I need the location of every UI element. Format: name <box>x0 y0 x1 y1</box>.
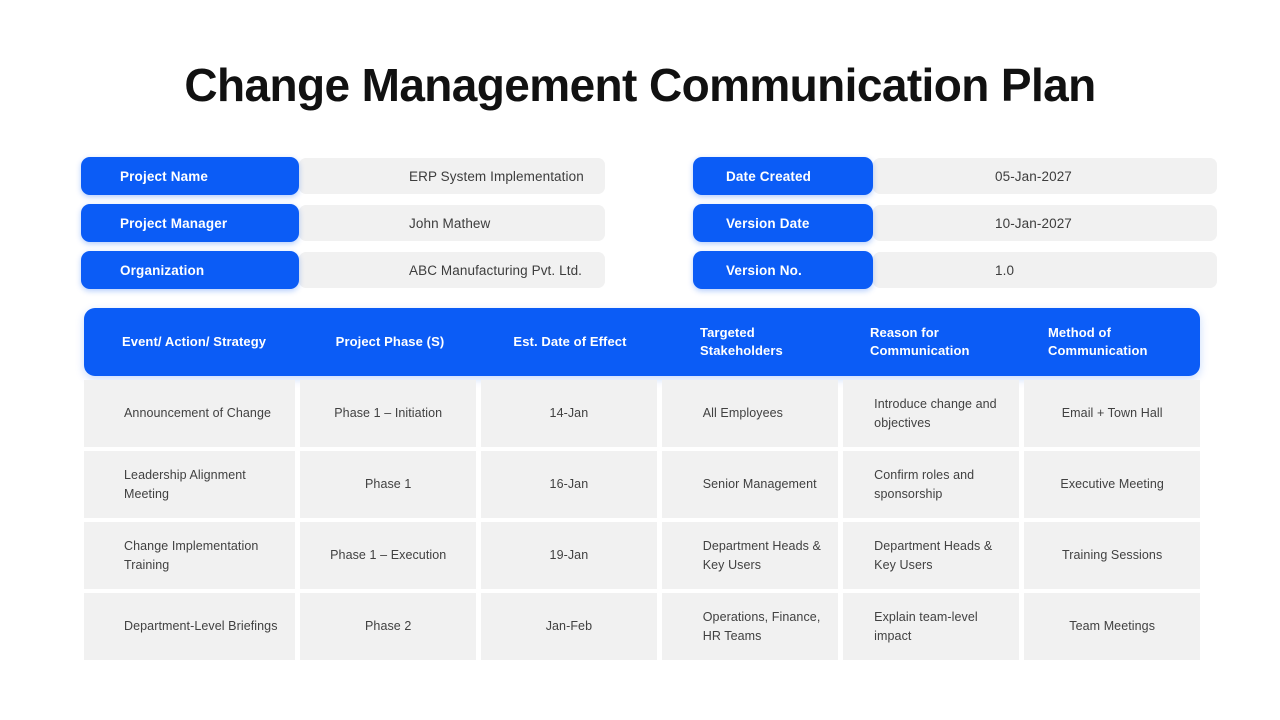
meta-label-date-created: Date Created <box>693 157 873 195</box>
meta-row-version-no: 1.0 Version No. <box>693 251 1217 289</box>
table-cell: Senior Management <box>662 451 838 518</box>
table-cell: Change Implementation Training <box>84 522 295 589</box>
table-row: Announcement of Change Phase 1 – Initiat… <box>84 380 1200 447</box>
meta-value-version-no: 1.0 <box>873 252 1217 288</box>
table-cell: 14-Jan <box>481 380 657 447</box>
table-cell: Team Meetings <box>1024 593 1200 660</box>
project-meta-panel: ERP System Implementation Project Name J… <box>81 157 1199 291</box>
communication-plan-table: Event/ Action/ Strategy Project Phase (S… <box>84 308 1200 664</box>
table-cell: Training Sessions <box>1024 522 1200 589</box>
meta-label-version-no: Version No. <box>693 251 873 289</box>
table-row: Change Implementation Training Phase 1 –… <box>84 522 1200 589</box>
table-cell: Department Heads & Key Users <box>662 522 838 589</box>
table-header-cell: Est. Date of Effect <box>480 308 660 376</box>
table-cell: Phase 1 – Initiation <box>300 380 476 447</box>
table-cell: Explain team-level impact <box>843 593 1019 660</box>
table-header-cell: Event/ Action/ Strategy <box>84 308 300 376</box>
table-header-cell: Method of Communication <box>1020 308 1200 376</box>
table-cell: Phase 1 – Execution <box>300 522 476 589</box>
table-cell: 19-Jan <box>481 522 657 589</box>
meta-row-date-created: 05-Jan-2027 Date Created <box>693 157 1217 195</box>
table-header-cell: Reason for Communication <box>840 308 1020 376</box>
meta-row-version-date: 10-Jan-2027 Version Date <box>693 204 1217 242</box>
table-cell: Department Heads & Key Users <box>843 522 1019 589</box>
table-cell: Announcement of Change <box>84 380 295 447</box>
table-cell: Leadership Alignment Meeting <box>84 451 295 518</box>
table-row: Department-Level Briefings Phase 2 Jan-F… <box>84 593 1200 660</box>
table-cell: 16-Jan <box>481 451 657 518</box>
table-cell: Jan-Feb <box>481 593 657 660</box>
meta-row-organization: ABC Manufacturing Pvt. Ltd. Organization <box>81 251 605 289</box>
table-cell: Introduce change and objectives <box>843 380 1019 447</box>
meta-value-date-created: 05-Jan-2027 <box>873 158 1217 194</box>
meta-value-version-date: 10-Jan-2027 <box>873 205 1217 241</box>
page-title: Change Management Communication Plan <box>0 58 1280 112</box>
meta-label-project-name: Project Name <box>81 157 299 195</box>
meta-label-organization: Organization <box>81 251 299 289</box>
table-cell: All Employees <box>662 380 838 447</box>
table-cell: Phase 1 <box>300 451 476 518</box>
table-cell: Confirm roles and sponsorship <box>843 451 1019 518</box>
table-cell: Department-Level Briefings <box>84 593 295 660</box>
table-cell: Operations, Finance, HR Teams <box>662 593 838 660</box>
table-body: Announcement of Change Phase 1 – Initiat… <box>84 380 1200 660</box>
meta-label-version-date: Version Date <box>693 204 873 242</box>
table-cell: Phase 2 <box>300 593 476 660</box>
meta-value-project-name: ERP System Implementation <box>299 158 605 194</box>
meta-column-left: ERP System Implementation Project Name J… <box>81 157 605 291</box>
meta-row-project-manager: John Mathew Project Manager <box>81 204 605 242</box>
meta-value-project-manager: John Mathew <box>299 205 605 241</box>
table-header-cell: Targeted Stakeholders <box>660 308 840 376</box>
table-row: Leadership Alignment Meeting Phase 1 16-… <box>84 451 1200 518</box>
meta-label-project-manager: Project Manager <box>81 204 299 242</box>
meta-row-project-name: ERP System Implementation Project Name <box>81 157 605 195</box>
table-header-cell: Project Phase (S) <box>300 308 480 376</box>
meta-column-right: 05-Jan-2027 Date Created 10-Jan-2027 Ver… <box>693 157 1217 291</box>
table-cell: Email + Town Hall <box>1024 380 1200 447</box>
meta-value-organization: ABC Manufacturing Pvt. Ltd. <box>299 252 605 288</box>
table-cell: Executive Meeting <box>1024 451 1200 518</box>
table-header-row: Event/ Action/ Strategy Project Phase (S… <box>84 308 1200 376</box>
